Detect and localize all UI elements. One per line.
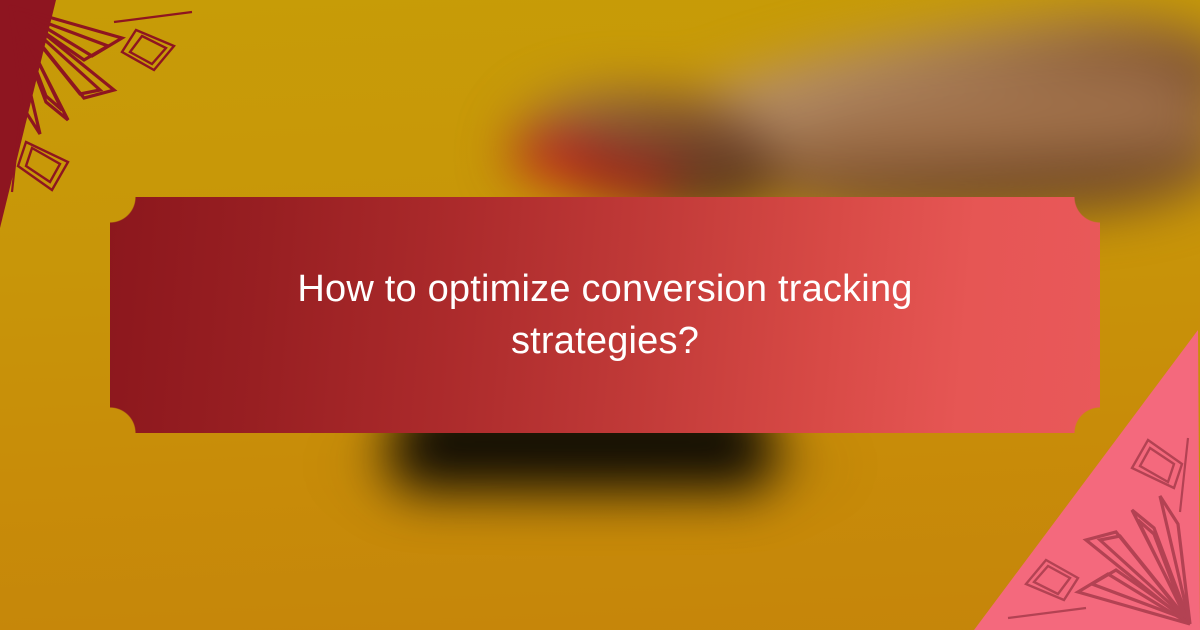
social-card: How to optimize conversion tracking stra… — [0, 0, 1200, 630]
page-title: How to optimize conversion tracking stra… — [110, 263, 1100, 368]
headline-banner: How to optimize conversion tracking stra… — [110, 197, 1100, 433]
